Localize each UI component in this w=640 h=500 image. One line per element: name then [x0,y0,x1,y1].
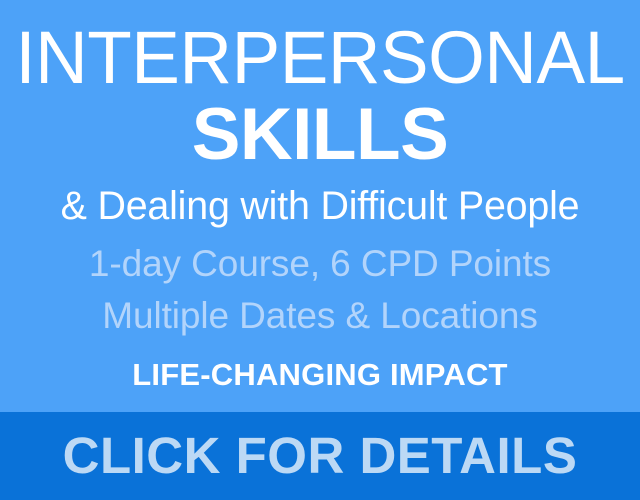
tagline: LIFE-CHANGING IMPACT [10,358,630,392]
ad-content-panel: INTERPERSONAL SKILLS & Dealing with Diff… [0,0,640,412]
headline-line-1: INTERPERSONAL [15,22,626,94]
detail-line-course-cpd: 1-day Course, 6 CPD Points [10,244,630,284]
advertisement-banner[interactable]: INTERPERSONAL SKILLS & Dealing with Diff… [0,0,640,500]
headline-block: INTERPERSONAL SKILLS [10,22,630,171]
headline-line-2: SKILLS [10,98,630,171]
subheadline: & Dealing with Difficult People [15,185,626,227]
cta-bar[interactable]: CLICK FOR DETAILS [0,412,640,500]
detail-line-dates-locations: Multiple Dates & Locations [10,296,630,336]
cta-button-label: CLICK FOR DETAILS [63,430,578,481]
